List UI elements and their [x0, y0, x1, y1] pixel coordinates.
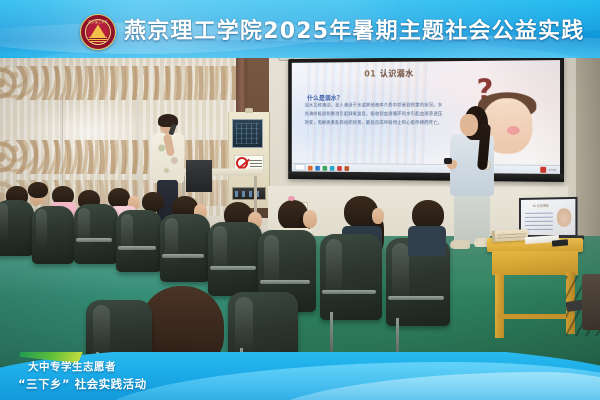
seat-leg: [330, 312, 333, 352]
header-banner: 燕京理工学院 燕京理工学院2025年暑期主题社会公益实践: [0, 0, 600, 58]
footer-caption: 大中专学生志愿者 “三下乡” 社会实践活动: [18, 359, 147, 392]
seat-armrest: [76, 238, 112, 242]
cabinet-display: [232, 119, 263, 148]
cabinet-knob: [245, 108, 253, 113]
display-screen[interactable]: 01认识溺水 什么是溺水？ 溺水又称淹溺，是人淹没于水或其他液体介质中并受到伤害…: [292, 60, 560, 174]
slide-body-text: 溺水又称淹溺，是人淹没于水或其他液体介质中并受到伤害的状况。水充满呼吸道和肺泡引…: [305, 102, 445, 128]
hair-scrunchie: [288, 196, 295, 201]
taskbar-icon[interactable]: [345, 166, 350, 171]
taskbar-icon[interactable]: [308, 165, 313, 170]
seat-armrest: [260, 280, 310, 284]
yanjing-institute-emblem-icon: 燕京理工学院: [80, 14, 116, 50]
start-button[interactable]: [294, 164, 305, 171]
table-leg: [254, 176, 257, 212]
student-face: [372, 208, 384, 224]
seat-armrest: [322, 290, 376, 294]
laptop-slide-title: 01 认识溺水: [533, 203, 549, 207]
footer-line-2: “三下乡” 社会实践活动: [18, 376, 147, 392]
student-face: [303, 210, 317, 228]
page-title: 燕京理工学院2025年暑期主题社会公益实践: [124, 13, 584, 45]
seat-armrest: [118, 246, 156, 250]
lace-band: [0, 66, 238, 100]
wall-control-cabinet: [228, 112, 270, 208]
laptop-slide-text: [525, 212, 553, 230]
waste-bin: [582, 274, 600, 330]
taskbar-icon[interactable]: [337, 166, 342, 171]
taskbar-clock: 17:42: [549, 168, 556, 172]
screenshot-root: 01认识溺水 什么是溺水？ 溺水又称淹溺，是人淹没于水或其他液体介质中并受到伤害…: [0, 0, 600, 400]
seat: [208, 222, 262, 296]
seat: [32, 206, 74, 264]
classroom-photo: 01认识溺水 什么是溺水？ 溺水又称淹溺，是人淹没于水或其他液体介质中并受到伤害…: [0, 0, 600, 400]
taskbar-icon[interactable]: [330, 166, 335, 171]
seat: [160, 214, 210, 282]
slide-subtitle: 什么是溺水？: [307, 92, 343, 102]
seat: [74, 204, 118, 264]
taskbar-icon[interactable]: [323, 165, 328, 170]
footer-line-1: 大中专学生志愿者: [28, 359, 147, 374]
seat-armrest: [210, 266, 256, 270]
cabinet-control-panel: [232, 187, 266, 200]
student-head: [108, 188, 130, 208]
seat-armrest: [162, 254, 204, 258]
seat: [320, 234, 382, 320]
taskbar-tray[interactable]: 17:42: [541, 167, 556, 173]
desk-stretcher: [497, 314, 573, 319]
student-head: [28, 182, 48, 198]
volunteer-face: [460, 114, 478, 136]
interactive-flat-panel[interactable]: 01认识溺水 什么是溺水？ 溺水又称淹溺，是人淹没于水或其他液体介质中并受到伤害…: [288, 56, 564, 182]
taskbar-icon[interactable]: [315, 165, 320, 170]
seat: [0, 200, 34, 256]
seat-armrest: [388, 296, 444, 300]
emblem-mark: [90, 24, 106, 37]
volunteer-shoe: [450, 240, 470, 249]
student-head: [142, 192, 164, 212]
sign-text-lines: [250, 158, 262, 167]
podium: [186, 160, 212, 192]
presenter-clicker-icon: [444, 158, 452, 164]
slide-title: 01认识溺水: [364, 67, 413, 79]
seat: [116, 210, 162, 272]
slide-number: 01: [364, 70, 376, 80]
slide-title-text: 认识溺水: [380, 69, 414, 79]
no-smoking-icon: [236, 157, 248, 169]
book-stack: [492, 229, 529, 242]
emblem-base: [89, 37, 107, 42]
laptop-slide-illustration: [557, 208, 571, 227]
desk-leg: [495, 274, 504, 338]
footer-banner: 大中专学生志愿者 “三下乡” 社会实践活动: [0, 352, 600, 400]
volunteer-pants: [454, 192, 490, 244]
tray-icon[interactable]: [541, 167, 547, 173]
student-shirt: [408, 226, 446, 256]
